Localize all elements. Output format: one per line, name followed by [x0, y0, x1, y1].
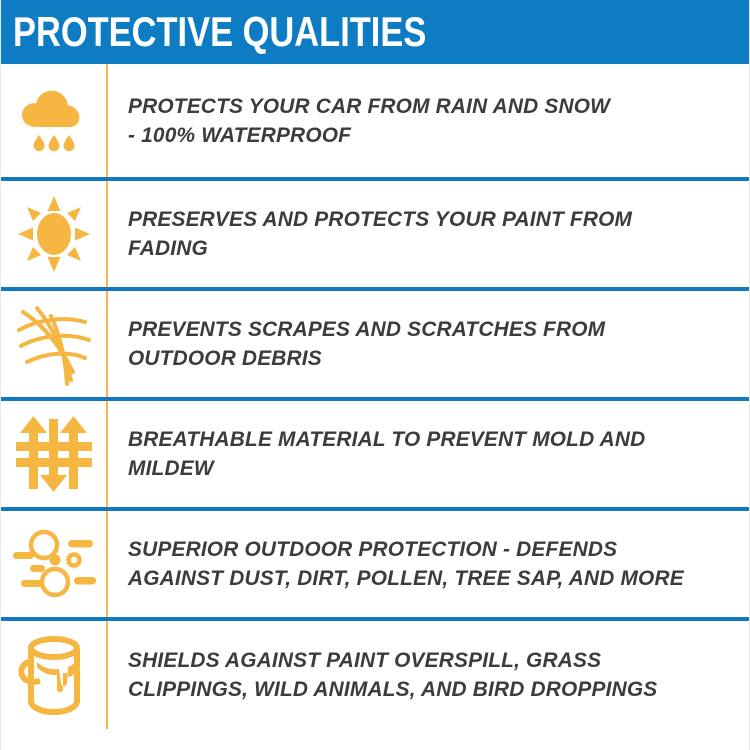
- feature-text-cell: PROTECTS YOUR CAR FROM RAIN AND SNOW - 1…: [108, 92, 749, 150]
- paint-can-icon: [15, 631, 93, 719]
- feature-icon-cell: [1, 64, 106, 177]
- protective-qualities-infographic: PROTECTIVE QUALITIES PROTECTS YOUR CAR F…: [0, 0, 750, 750]
- feature-text-cell: SHIELDS AGAINST PAINT OVERSPILL, GRASS C…: [108, 646, 749, 704]
- feature-icon-cell: [1, 621, 106, 729]
- feature-row: PROTECTS YOUR CAR FROM RAIN AND SNOW - 1…: [1, 64, 749, 177]
- rain-cloud-icon: [15, 82, 93, 160]
- feature-text-line: BREATHABLE MATERIAL TO PREVENT MOLD AND: [128, 425, 717, 454]
- feature-text-line: MILDEW: [128, 454, 717, 483]
- feature-text-cell: PRESERVES AND PROTECTS YOUR PAINT FROM F…: [108, 205, 749, 263]
- feature-text-line: SHIELDS AGAINST PAINT OVERSPILL, GRASS: [128, 646, 717, 675]
- scratch-net-icon: [13, 300, 95, 388]
- header-band: PROTECTIVE QUALITIES: [1, 0, 749, 64]
- feature-text: PREVENTS SCRAPES AND SCRATCHES FROM OUTD…: [128, 315, 717, 373]
- feature-row: SHIELDS AGAINST PAINT OVERSPILL, GRASS C…: [1, 617, 749, 729]
- page-title: PROTECTIVE QUALITIES: [13, 11, 426, 53]
- feature-icon-cell: [1, 401, 106, 507]
- feature-text-line: - 100% WATERPROOF: [128, 121, 717, 150]
- feature-text-line: AGAINST DUST, DIRT, POLLEN, TREE SAP, AN…: [128, 564, 717, 593]
- feature-text-line: PREVENTS SCRAPES AND SCRATCHES FROM: [128, 315, 717, 344]
- feature-text: PRESERVES AND PROTECTS YOUR PAINT FROM F…: [128, 205, 717, 263]
- feature-row: PREVENTS SCRAPES AND SCRATCHES FROM OUTD…: [1, 287, 749, 397]
- feature-list: PROTECTS YOUR CAR FROM RAIN AND SNOW - 1…: [1, 64, 749, 729]
- feature-text-line: SUPERIOR OUTDOOR PROTECTION - DEFENDS: [128, 535, 717, 564]
- feature-text: BREATHABLE MATERIAL TO PREVENT MOLD AND …: [128, 425, 717, 483]
- feature-row: PRESERVES AND PROTECTS YOUR PAINT FROM F…: [1, 177, 749, 287]
- feature-icon-cell: [1, 291, 106, 397]
- feature-text-cell: SUPERIOR OUTDOOR PROTECTION - DEFENDS AG…: [108, 535, 749, 593]
- sun-icon: [14, 194, 94, 274]
- feature-text-line: PROTECTS YOUR CAR FROM RAIN AND SNOW: [128, 92, 717, 121]
- feature-icon-cell: [1, 181, 106, 287]
- feature-text-cell: PREVENTS SCRAPES AND SCRATCHES FROM OUTD…: [108, 315, 749, 373]
- feature-text: PROTECTS YOUR CAR FROM RAIN AND SNOW - 1…: [128, 92, 717, 150]
- feature-text: SHIELDS AGAINST PAINT OVERSPILL, GRASS C…: [128, 646, 717, 704]
- feature-text-line: OUTDOOR DEBRIS: [128, 344, 717, 373]
- feature-text: SUPERIOR OUTDOOR PROTECTION - DEFENDS AG…: [128, 535, 717, 593]
- feature-text-cell: BREATHABLE MATERIAL TO PREVENT MOLD AND …: [108, 425, 749, 483]
- dust-particles-icon: [11, 524, 97, 604]
- breathable-arrows-icon: [14, 411, 94, 497]
- feature-text-line: PRESERVES AND PROTECTS YOUR PAINT FROM: [128, 205, 717, 234]
- feature-icon-cell: [1, 511, 106, 617]
- feature-row: SUPERIOR OUTDOOR PROTECTION - DEFENDS AG…: [1, 507, 749, 617]
- feature-text-line: FADING: [128, 234, 717, 263]
- feature-text-line: CLIPPINGS, WILD ANIMALS, AND BIRD DROPPI…: [128, 675, 717, 704]
- feature-row: BREATHABLE MATERIAL TO PREVENT MOLD AND …: [1, 397, 749, 507]
